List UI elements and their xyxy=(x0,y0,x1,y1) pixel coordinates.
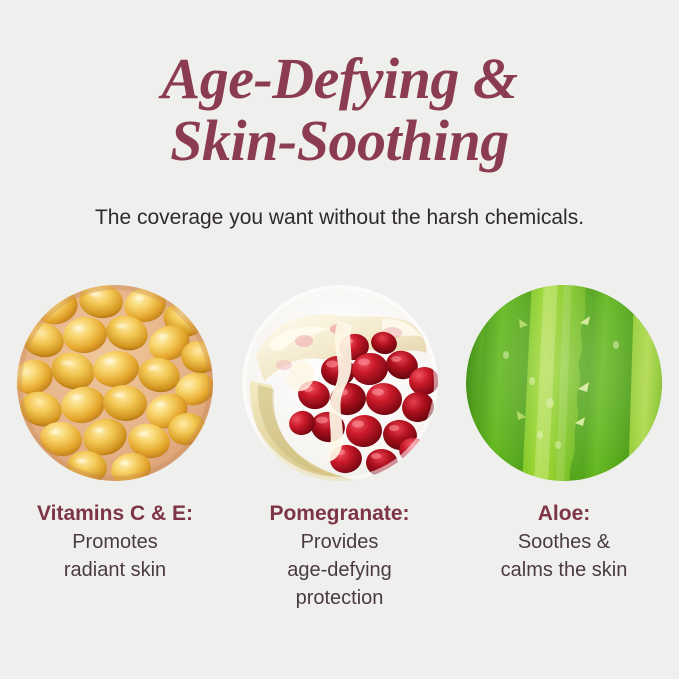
ingredient-body-line-2: radiant skin xyxy=(10,556,220,584)
ingredient-column-aloe: Aloe: Soothes & calms the skin xyxy=(466,285,662,612)
ingredient-columns: Vitamins C & E: Promotes radiant skin xyxy=(0,285,679,612)
ingredient-body: Soothes & calms the skin xyxy=(459,528,669,584)
aloe-leaves-photo xyxy=(466,285,662,481)
ingredient-body-line-2: calms the skin xyxy=(459,556,669,584)
ingredient-column-pomegranate: Pomegranate: Provides age-defying protec… xyxy=(242,285,438,612)
ingredient-title: Vitamins C & E: xyxy=(10,500,220,528)
ingredient-body: Promotes radiant skin xyxy=(10,528,220,584)
subtitle: The coverage you want without the harsh … xyxy=(0,203,679,233)
ingredient-title: Pomegranate: xyxy=(235,500,445,528)
ingredient-body-line-1: Provides xyxy=(235,528,445,556)
ingredient-body-line-1: Soothes & xyxy=(459,528,669,556)
headline-line-1: Age-Defying & xyxy=(0,48,679,110)
pomegranate-photo xyxy=(242,285,438,481)
promo-graphic: Age-Defying & Skin-Soothing The coverage… xyxy=(0,0,679,679)
vitamin-capsules-photo xyxy=(17,285,213,481)
ingredient-caption-aloe: Aloe: Soothes & calms the skin xyxy=(459,500,669,584)
ingredient-body: Provides age-defying protection xyxy=(235,528,445,612)
ingredient-title: Aloe: xyxy=(459,500,669,528)
ingredient-body-line-1: Promotes xyxy=(10,528,220,556)
headline-line-2: Skin-Soothing xyxy=(0,110,679,172)
ingredient-column-vitamins: Vitamins C & E: Promotes radiant skin xyxy=(17,285,213,612)
page-title: Age-Defying & Skin-Soothing xyxy=(0,48,679,172)
ingredient-body-line-2: age-defying xyxy=(235,556,445,584)
ingredient-caption-pomegranate: Pomegranate: Provides age-defying protec… xyxy=(235,500,445,612)
ingredient-caption-vitamins: Vitamins C & E: Promotes radiant skin xyxy=(10,500,220,584)
ingredient-body-line-3: protection xyxy=(235,584,445,612)
